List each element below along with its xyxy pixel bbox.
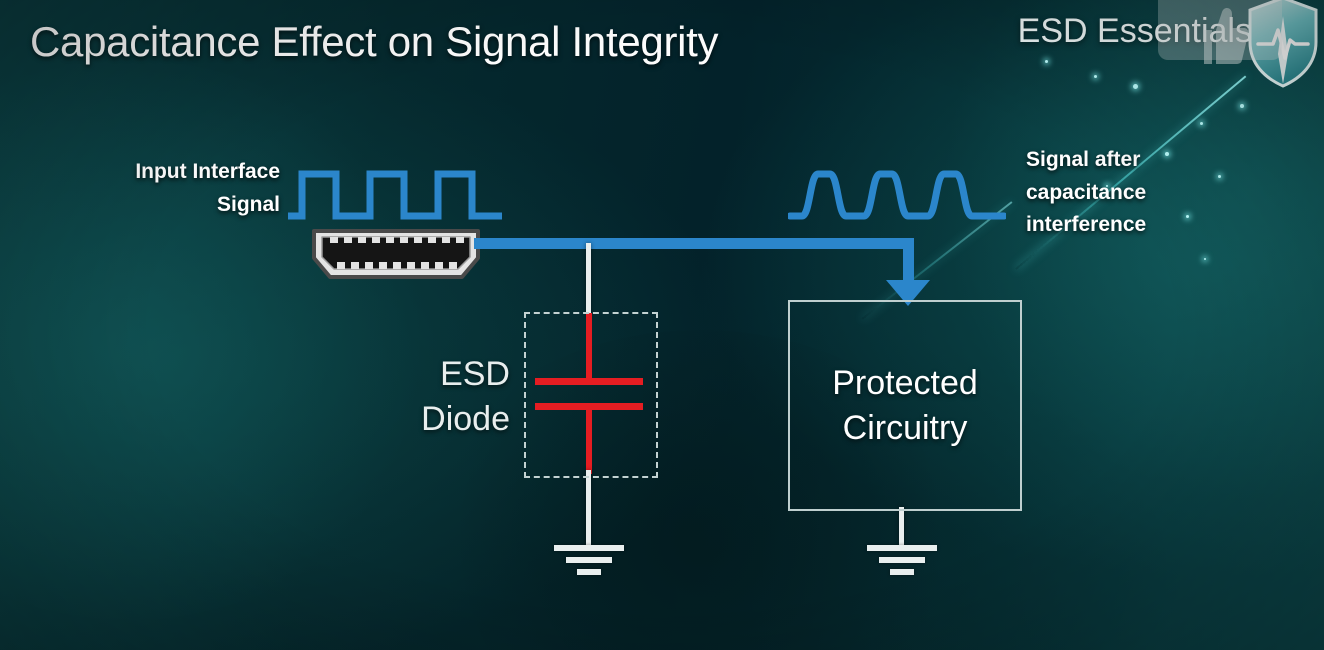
esd-diode-label: ESD Diode <box>380 352 510 442</box>
input-square-waveform <box>286 168 504 227</box>
particle-dot <box>1045 60 1048 63</box>
protected-circuitry-box: Protected Circuitry <box>788 300 1022 511</box>
ground-bar <box>879 557 925 563</box>
ground-bar <box>890 569 914 575</box>
slide-canvas: Capacitance Effect on Signal Integrity E… <box>0 0 1324 650</box>
esd-diode-label-line2: Diode <box>380 397 510 442</box>
output-signal-label-line1: Signal after <box>1026 144 1256 177</box>
esd-diode-label-line1: ESD <box>380 352 510 397</box>
particle-dot <box>1200 122 1203 125</box>
particle-dot <box>1240 104 1244 108</box>
esd-ground-wire <box>586 470 591 545</box>
page-title: Capacitance Effect on Signal Integrity <box>30 18 718 66</box>
particle-dot <box>1094 75 1097 78</box>
ground-bar <box>867 545 937 551</box>
input-signal-label-line1: Input Interface <box>40 156 280 189</box>
output-signal-label-line3: interference <box>1026 209 1256 242</box>
particle-dot <box>1133 84 1138 89</box>
capacitor-plate-top <box>535 378 643 385</box>
capacitor-plate-bottom <box>535 403 643 410</box>
protected-circuitry-label: Protected Circuitry <box>832 361 978 451</box>
ground-symbol-esd <box>554 545 624 581</box>
esd-branch-wire <box>586 243 591 317</box>
ground-symbol-protected <box>867 545 937 581</box>
hdmi-connector <box>308 228 484 280</box>
ground-bar <box>554 545 624 551</box>
input-signal-label-line2: Signal <box>40 189 280 222</box>
particle-dot <box>1204 258 1206 260</box>
ground-bar <box>577 569 601 575</box>
output-rounded-waveform <box>788 168 1006 227</box>
protected-ground-wire <box>899 507 904 545</box>
signal-wire-horizontal <box>474 238 914 249</box>
esd-diode-boundary <box>524 312 658 478</box>
thumbs-up-overlay <box>1158 0 1282 60</box>
vignette-overlay <box>0 0 1324 650</box>
output-signal-label-line2: capacitance <box>1026 177 1256 210</box>
protected-circuitry-label-line1: Protected <box>832 361 978 406</box>
output-signal-label: Signal after capacitance interference <box>1026 144 1256 242</box>
ground-bar <box>566 557 612 563</box>
protected-circuitry-label-line2: Circuitry <box>832 406 978 451</box>
input-signal-label: Input Interface Signal <box>40 156 280 221</box>
background-glow-left <box>0 60 440 620</box>
